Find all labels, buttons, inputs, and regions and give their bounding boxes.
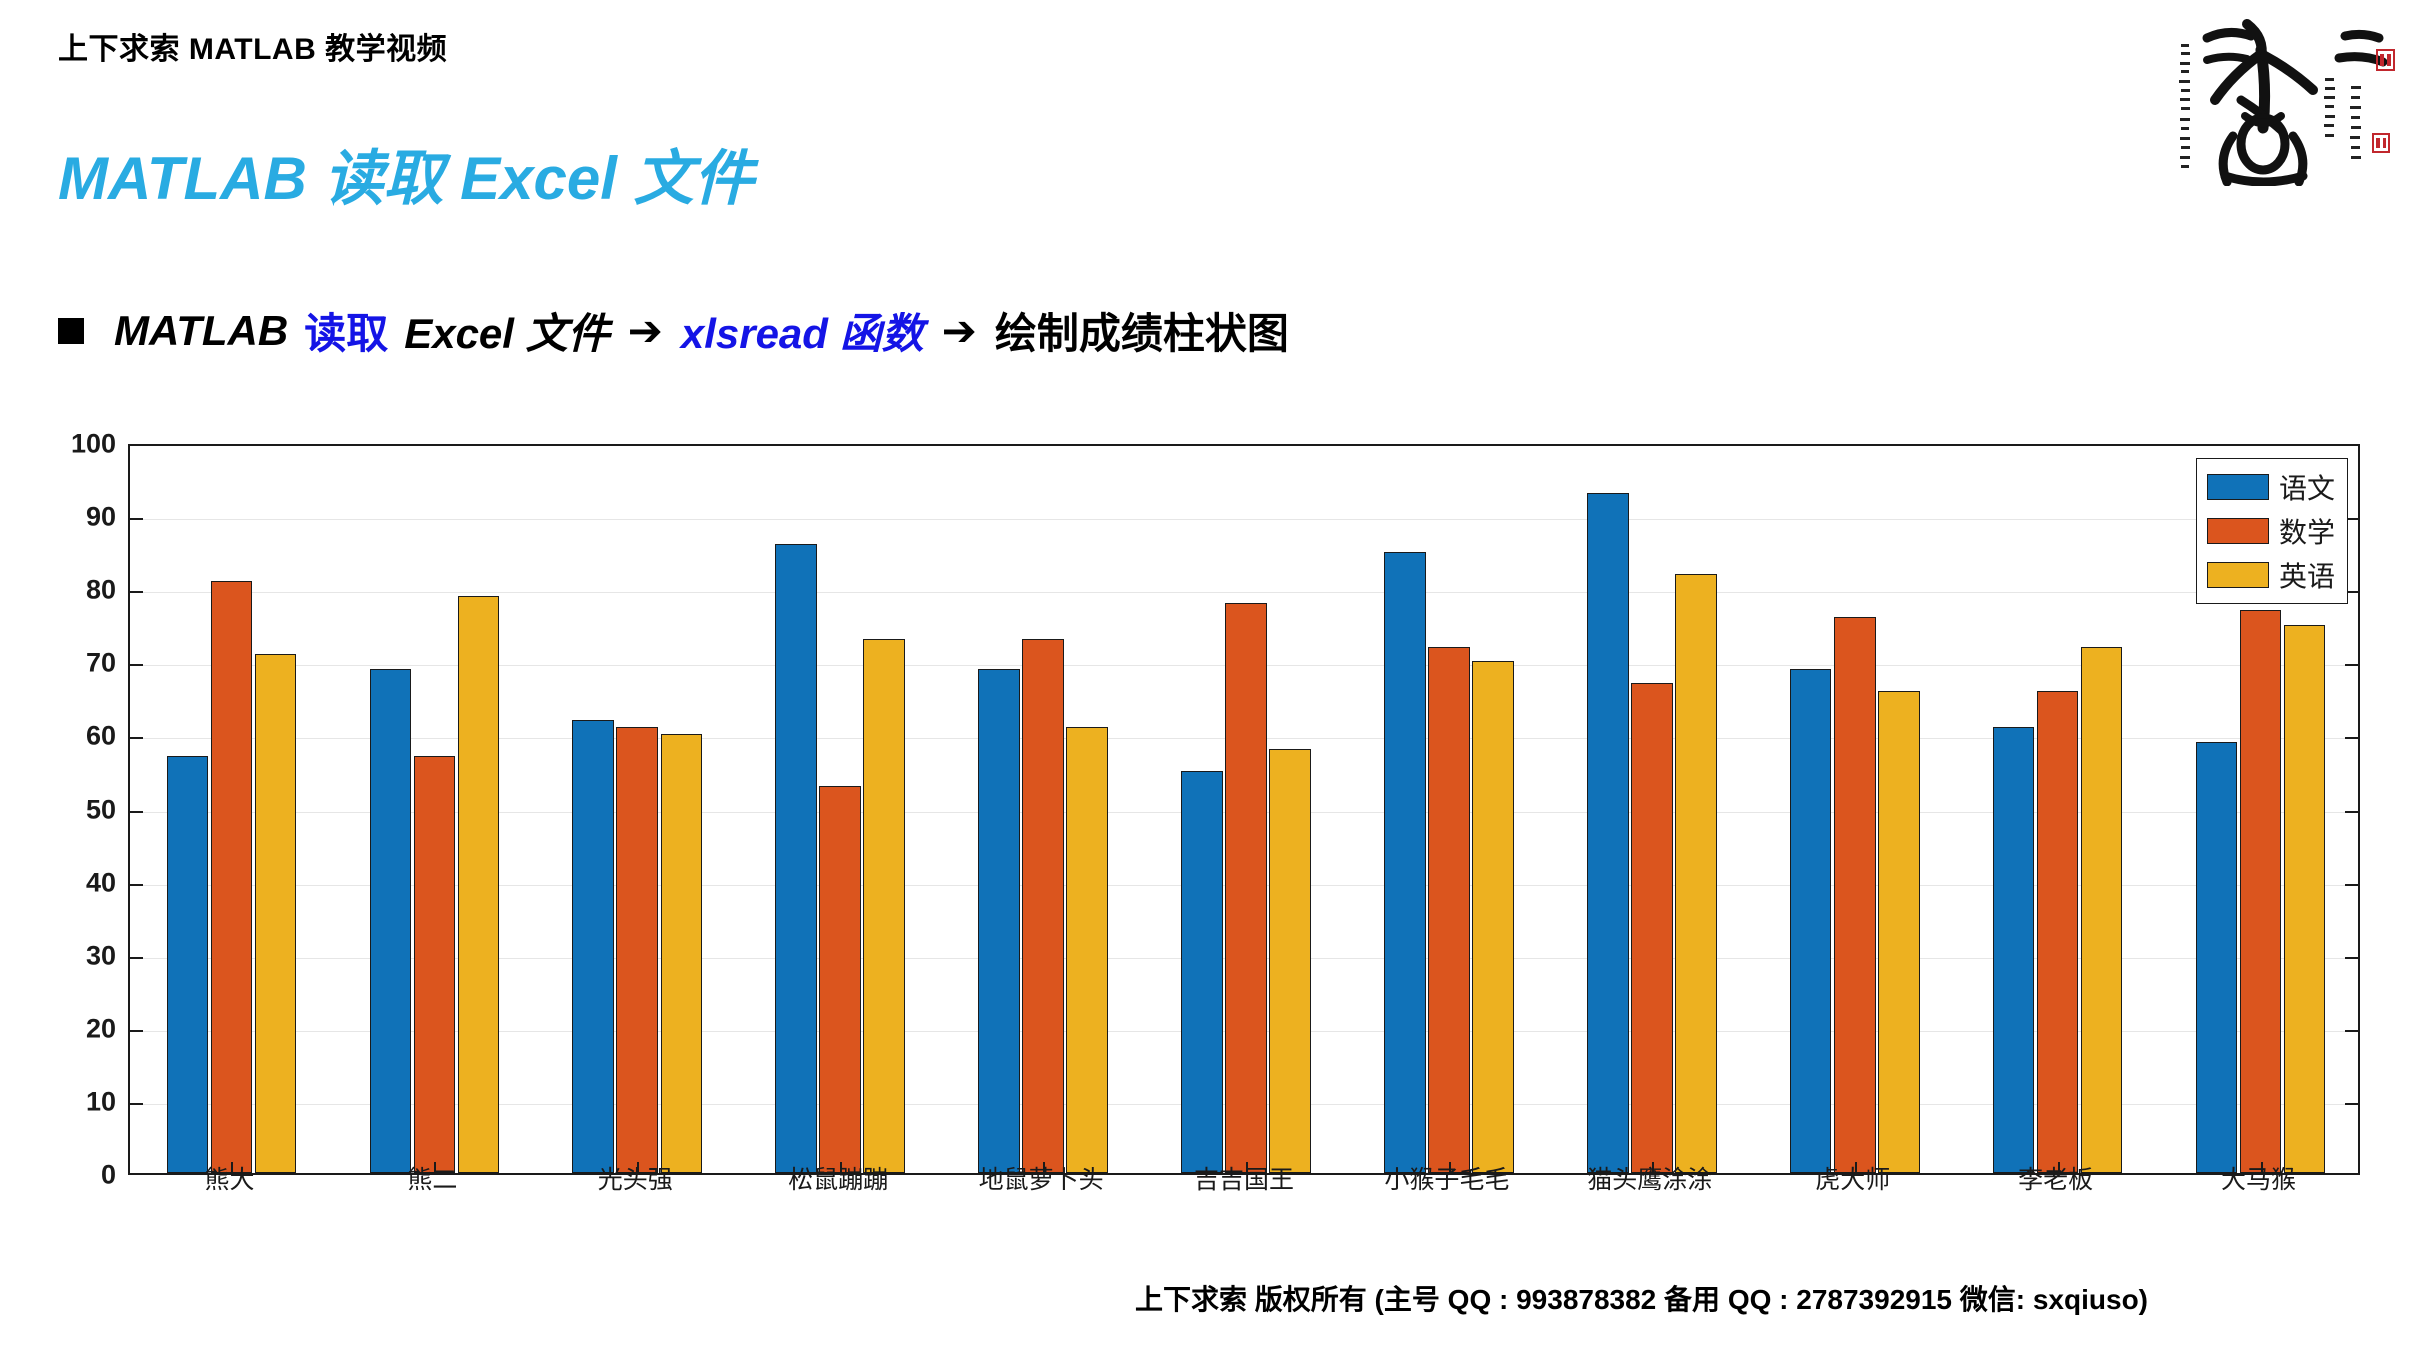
y-tick [130, 957, 143, 959]
y-axis-tick-label: 30 [86, 940, 116, 971]
legend-label: 英语 [2279, 555, 2335, 595]
arrow-right-icon: ➔ [610, 306, 681, 355]
bar-group [167, 446, 297, 1173]
plot-area: 语文数学英语 [128, 444, 2360, 1175]
y-tick-right [2345, 1030, 2358, 1032]
bullet-line: MATLAB 读取 Excel 文件 ➔ xlsread 函数 ➔ 绘制成绩柱状… [58, 300, 1289, 361]
bar-英语-光头强[interactable] [661, 734, 703, 1173]
x-axis-tick-label: 虎大师 [1815, 1160, 1890, 1196]
y-tick-right [2345, 884, 2358, 886]
x-axis-tick-label: 吉吉国王 [1194, 1160, 1294, 1196]
x-axis-tick-label: 小猴子毛毛 [1384, 1160, 1509, 1196]
y-axis-tick-label: 100 [71, 429, 116, 460]
y-tick [130, 518, 143, 520]
x-axis-tick-label: 地鼠萝卜头 [979, 1160, 1104, 1196]
y-axis-tick-label: 20 [86, 1013, 116, 1044]
bar-语文-猫头鹰涂涂[interactable] [1587, 493, 1629, 1173]
x-axis-tick-label: 熊二 [407, 1160, 457, 1196]
y-axis-labels: 0102030405060708090100 [58, 444, 116, 1175]
legend-swatch-icon [2207, 562, 2269, 588]
bar-数学-光头强[interactable] [616, 727, 658, 1173]
bar-group [1384, 446, 1514, 1173]
y-tick-right [2345, 1103, 2358, 1105]
bar-语文-光头强[interactable] [572, 720, 614, 1173]
bar-数学-小猴子毛毛[interactable] [1428, 647, 1470, 1173]
bullet-seg-excel-file: Excel 文件 [404, 300, 609, 361]
bullet-seg-matlab: MATLAB [114, 307, 288, 355]
y-tick [130, 664, 143, 666]
bar-group [775, 446, 905, 1173]
y-tick [130, 811, 143, 813]
bar-英语-地鼠萝卜头[interactable] [1066, 727, 1108, 1173]
x-axis-tick-label: 大马猴 [2221, 1160, 2296, 1196]
x-axis-tick-label: 光头强 [598, 1160, 673, 1196]
bar-英语-熊二[interactable] [458, 596, 500, 1173]
bar-数学-李老板[interactable] [2037, 691, 2079, 1173]
bullet-seg-duqu: 读取 [304, 300, 388, 361]
bar-group [1181, 446, 1311, 1173]
bar-数学-地鼠萝卜头[interactable] [1022, 639, 1064, 1173]
legend-label: 数学 [2279, 511, 2335, 551]
bar-英语-大马猴[interactable] [2284, 625, 2326, 1173]
bar-语文-大马猴[interactable] [2196, 742, 2238, 1173]
grade-bar-chart: 0102030405060708090100 语文数学英语 熊大熊二光头强松鼠蹦… [58, 418, 2368, 1248]
legend-label: 语文 [2279, 467, 2335, 507]
arrow-right-icon-2: ➔ [924, 306, 995, 355]
y-tick-right [2345, 957, 2358, 959]
bar-语文-李老板[interactable] [1993, 727, 2035, 1173]
legend-item-数学[interactable]: 数学 [2207, 511, 2335, 551]
legend-item-英语[interactable]: 英语 [2207, 555, 2335, 595]
bar-语文-地鼠萝卜头[interactable] [978, 669, 1020, 1173]
y-tick-right [2345, 664, 2358, 666]
bar-英语-吉吉国王[interactable] [1269, 749, 1311, 1173]
y-tick [130, 737, 143, 739]
bar-英语-熊大[interactable] [255, 654, 297, 1173]
y-axis-tick-label: 10 [86, 1086, 116, 1117]
y-tick [130, 1103, 143, 1105]
bar-数学-熊二[interactable] [414, 756, 456, 1173]
bar-语文-熊二[interactable] [370, 669, 412, 1173]
y-axis-tick-label: 50 [86, 794, 116, 825]
bar-数学-猫头鹰涂涂[interactable] [1631, 683, 1673, 1173]
bar-语文-松鼠蹦蹦[interactable] [775, 544, 817, 1173]
bar-数学-大马猴[interactable] [2240, 610, 2282, 1173]
legend-swatch-icon [2207, 518, 2269, 544]
bar-英语-小猴子毛毛[interactable] [1472, 661, 1514, 1173]
bar-英语-虎大师[interactable] [1878, 691, 1920, 1173]
y-tick [130, 1030, 143, 1032]
y-axis-tick-label: 90 [86, 502, 116, 533]
x-axis-tick-label: 李老板 [2018, 1160, 2093, 1196]
bar-数学-吉吉国王[interactable] [1225, 603, 1267, 1173]
bar-group [572, 446, 702, 1173]
copyright-footer: 上下求索 版权所有 (主号 QQ : 993878382 备用 QQ : 278… [1135, 1278, 2148, 1318]
page-title: MATLAB 读取 Excel 文件 [58, 130, 754, 217]
bar-语文-小猴子毛毛[interactable] [1384, 552, 1426, 1173]
y-axis-tick-label: 60 [86, 721, 116, 752]
y-tick [130, 591, 143, 593]
bar-group [978, 446, 1108, 1173]
x-axis-tick-label: 熊大 [204, 1160, 254, 1196]
bar-数学-虎大师[interactable] [1834, 617, 1876, 1173]
bullet-seg-plot-bar: 绘制成绩柱状图 [995, 300, 1289, 361]
bullet-square-icon [58, 318, 84, 344]
y-tick-right [2345, 737, 2358, 739]
bar-group [1790, 446, 1920, 1173]
x-axis-tick-label: 松鼠蹦蹦 [788, 1160, 888, 1196]
shangxia-qiusuo-seal-logo [2129, 8, 2409, 186]
bar-数学-熊大[interactable] [211, 581, 253, 1173]
header-kicker: 上下求索 MATLAB 教学视频 [58, 24, 447, 68]
y-axis-tick-label: 80 [86, 575, 116, 606]
legend-swatch-icon [2207, 474, 2269, 500]
bar-英语-松鼠蹦蹦[interactable] [863, 639, 905, 1173]
bar-语文-吉吉国王[interactable] [1181, 771, 1223, 1173]
legend-item-语文[interactable]: 语文 [2207, 467, 2335, 507]
y-axis-tick-label: 40 [86, 867, 116, 898]
y-tick [130, 884, 143, 886]
bar-语文-熊大[interactable] [167, 756, 209, 1173]
bar-数学-松鼠蹦蹦[interactable] [819, 786, 861, 1173]
y-axis-tick-label: 70 [86, 648, 116, 679]
bar-语文-虎大师[interactable] [1790, 669, 1832, 1173]
x-axis-tick-label: 猫头鹰涂涂 [1587, 1160, 1712, 1196]
chart-legend[interactable]: 语文数学英语 [2196, 458, 2348, 604]
y-axis-tick-label: 0 [101, 1160, 116, 1191]
bar-group [370, 446, 500, 1173]
bar-英语-李老板[interactable] [2081, 647, 2123, 1173]
bar-group [1993, 446, 2123, 1173]
bar-group [1587, 446, 1717, 1173]
bullet-seg-xlsread: xlsread 函数 [681, 300, 924, 361]
bar-英语-猫头鹰涂涂[interactable] [1675, 574, 1717, 1173]
y-tick-right [2345, 811, 2358, 813]
